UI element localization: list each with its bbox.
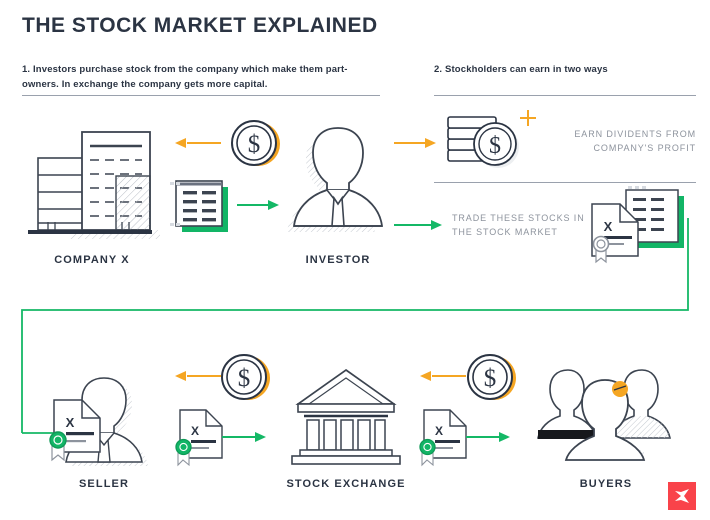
note-dividends: EARN DIVIDENTS FROM COMPANY'S PROFIT xyxy=(556,128,696,156)
share-certificate-icon-right: X xyxy=(412,406,474,468)
coin-symbol: $ xyxy=(238,365,251,392)
caption-exchange: STOCK EXCHANGE xyxy=(280,478,412,490)
step-2-text: 2. Stockholders can earn in two ways xyxy=(434,63,704,78)
coin-symbol: $ xyxy=(484,365,497,392)
caption-seller: SELLER xyxy=(44,478,164,490)
step-1-text: 1. Investors purchase stock from the com… xyxy=(22,63,352,92)
divider-step1 xyxy=(22,95,380,96)
accent-dot-icon xyxy=(612,381,628,397)
arrow-left-payment-seller-icon xyxy=(175,369,223,383)
brand-logo-icon xyxy=(668,482,696,510)
logo-glyph-icon xyxy=(672,488,692,504)
arrow-right-buy-icon xyxy=(466,430,510,444)
certificate-mark: X xyxy=(435,424,443,438)
dollar-coin-icon: $ xyxy=(228,118,284,170)
arrow-right-sell-icon xyxy=(222,430,266,444)
arrow-left-payment-buyers-icon xyxy=(420,369,468,383)
arrow-left-money-icon xyxy=(175,136,223,150)
divider-step2-top xyxy=(434,95,696,96)
stock-exchange-building-icon xyxy=(286,364,406,468)
dollar-coin-icon-seller: $ xyxy=(218,352,274,404)
arrow-right-dividends-icon xyxy=(394,136,436,150)
page-title: THE STOCK MARKET EXPLAINED xyxy=(22,14,378,38)
caption-buyers: BUYERS xyxy=(540,478,672,490)
coin-stack-symbol: $ xyxy=(489,133,501,159)
certificate-mark: X xyxy=(66,415,75,430)
share-certificate-icon-left: X xyxy=(168,406,230,468)
plus-icon xyxy=(520,110,536,126)
infographic-canvas: THE STOCK MARKET EXPLAINED 1. Investors … xyxy=(0,0,710,520)
buyers-group-icon xyxy=(534,364,684,468)
dollar-coin-icon-buyers: $ xyxy=(464,352,520,404)
certificate-mark: X xyxy=(191,424,199,438)
coin-symbol: $ xyxy=(248,131,261,158)
seller-certificate-icon: X xyxy=(40,396,110,466)
coin-stack-icon: $ xyxy=(442,106,542,172)
